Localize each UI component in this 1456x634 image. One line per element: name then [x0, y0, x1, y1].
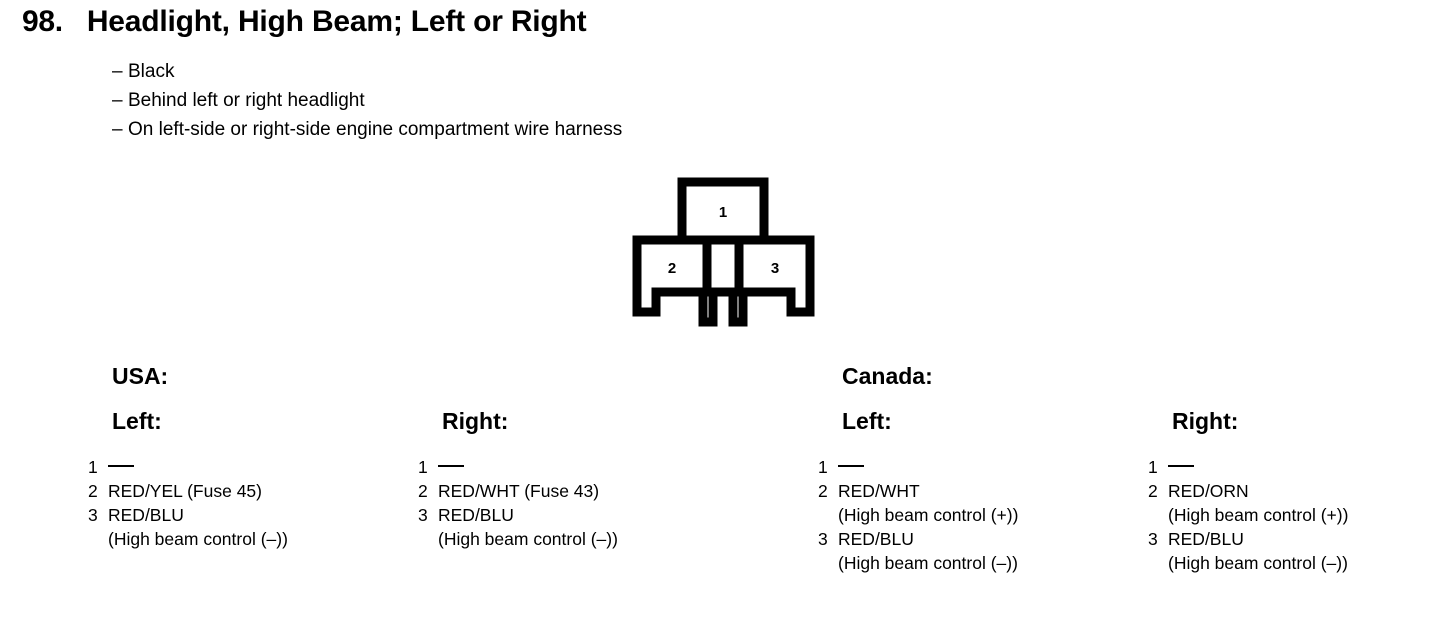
table-row: 3RED/BLU (High beam control (–)) — [418, 503, 618, 551]
pin-value: RED/WHT — [838, 479, 920, 503]
pin-table-canada-right: 1 2RED/ORN (High beam control (+)) 3RED/… — [1148, 455, 1348, 575]
pin-table-canada-left: 1 2RED/WHT (High beam control (+)) 3RED/… — [818, 455, 1018, 575]
pin-number: 1 — [418, 455, 438, 479]
region-heading-usa: USA: — [112, 363, 168, 390]
pin-number: 2 — [88, 479, 108, 503]
pin-value: RED/BLU — [838, 527, 914, 551]
connector-pin-label-2: 2 — [668, 260, 676, 277]
bullet-text: On left-side or right-side engine compar… — [128, 119, 622, 140]
page-title: Headlight, High Beam; Left or Right — [87, 5, 587, 39]
connector-number: 98. — [22, 5, 63, 39]
pin-number: 2 — [418, 479, 438, 503]
pin-number: 2 — [818, 479, 838, 503]
pin-value: RED/BLU — [108, 503, 184, 527]
table-row: 3RED/BLU (High beam control (–)) — [818, 527, 1018, 575]
pin-number: 3 — [1148, 527, 1168, 551]
pin-value: RED/ORN — [1168, 479, 1249, 503]
table-row: 1 — [88, 455, 288, 479]
table-row: 2RED/WHT (High beam control (+)) — [818, 479, 1018, 527]
list-item: –Black — [112, 57, 622, 86]
list-item: –Behind left or right headlight — [112, 86, 622, 115]
connector-pin-label-3: 3 — [771, 260, 779, 277]
table-row: 3RED/BLU (High beam control (–)) — [88, 503, 288, 551]
pin-number: 3 — [418, 503, 438, 527]
table-row: 2RED/YEL (Fuse 45) — [88, 479, 288, 503]
side-heading-usa-left: Left: — [112, 408, 162, 435]
no-connection-dash-icon — [438, 465, 464, 467]
pin-table-usa-left: 1 2RED/YEL (Fuse 45) 3RED/BLU (High beam… — [88, 455, 288, 551]
connector-diagram: 1 2 3 — [625, 170, 825, 330]
pin-number: 1 — [818, 455, 838, 479]
pin-detail: (High beam control (–)) — [1168, 551, 1348, 575]
side-heading-usa-right: Right: — [442, 408, 508, 435]
table-row: 2RED/ORN (High beam control (+)) — [1148, 479, 1348, 527]
pin-number: 2 — [1148, 479, 1168, 503]
bullet-text: Behind left or right headlight — [128, 90, 365, 111]
description-bullet-list: –Black –Behind left or right headlight –… — [112, 57, 622, 144]
pin-value: RED/YEL (Fuse 45) — [108, 479, 262, 503]
title-row: 98.Headlight, High Beam; Left or Right — [22, 5, 586, 39]
table-row: 2RED/WHT (Fuse 43) — [418, 479, 618, 503]
bullet-dash-icon: – — [112, 57, 128, 86]
no-connection-dash-icon — [838, 465, 864, 467]
pin-value: RED/BLU — [438, 503, 514, 527]
table-row: 3RED/BLU (High beam control (–)) — [1148, 527, 1348, 575]
table-row: 1 — [1148, 455, 1348, 479]
table-row: 1 — [818, 455, 1018, 479]
side-heading-canada-left: Left: — [842, 408, 892, 435]
pin-detail: (High beam control (–)) — [838, 551, 1018, 575]
pin-number: 1 — [88, 455, 108, 479]
pin-number: 3 — [818, 527, 838, 551]
pin-detail: (High beam control (–)) — [438, 527, 618, 551]
pin-value: RED/WHT (Fuse 43) — [438, 479, 599, 503]
no-connection-dash-icon — [1168, 465, 1194, 467]
pin-detail: (High beam control (–)) — [108, 527, 288, 551]
pin-number: 3 — [88, 503, 108, 527]
connector-outline-icon: 1 2 3 — [625, 170, 825, 330]
bullet-dash-icon: – — [112, 115, 128, 144]
list-item: –On left-side or right-side engine compa… — [112, 115, 622, 144]
bullet-dash-icon: – — [112, 86, 128, 115]
pin-detail: (High beam control (+)) — [1168, 503, 1348, 527]
region-heading-canada: Canada: — [842, 363, 933, 390]
pin-number: 1 — [1148, 455, 1168, 479]
side-heading-canada-right: Right: — [1172, 408, 1238, 435]
connector-pin-label-1: 1 — [719, 204, 727, 221]
pin-value: RED/BLU — [1168, 527, 1244, 551]
pin-detail: (High beam control (+)) — [838, 503, 1018, 527]
pin-table-usa-right: 1 2RED/WHT (Fuse 43) 3RED/BLU (High beam… — [418, 455, 618, 551]
table-row: 1 — [418, 455, 618, 479]
bullet-text: Black — [128, 61, 174, 82]
no-connection-dash-icon — [108, 465, 134, 467]
